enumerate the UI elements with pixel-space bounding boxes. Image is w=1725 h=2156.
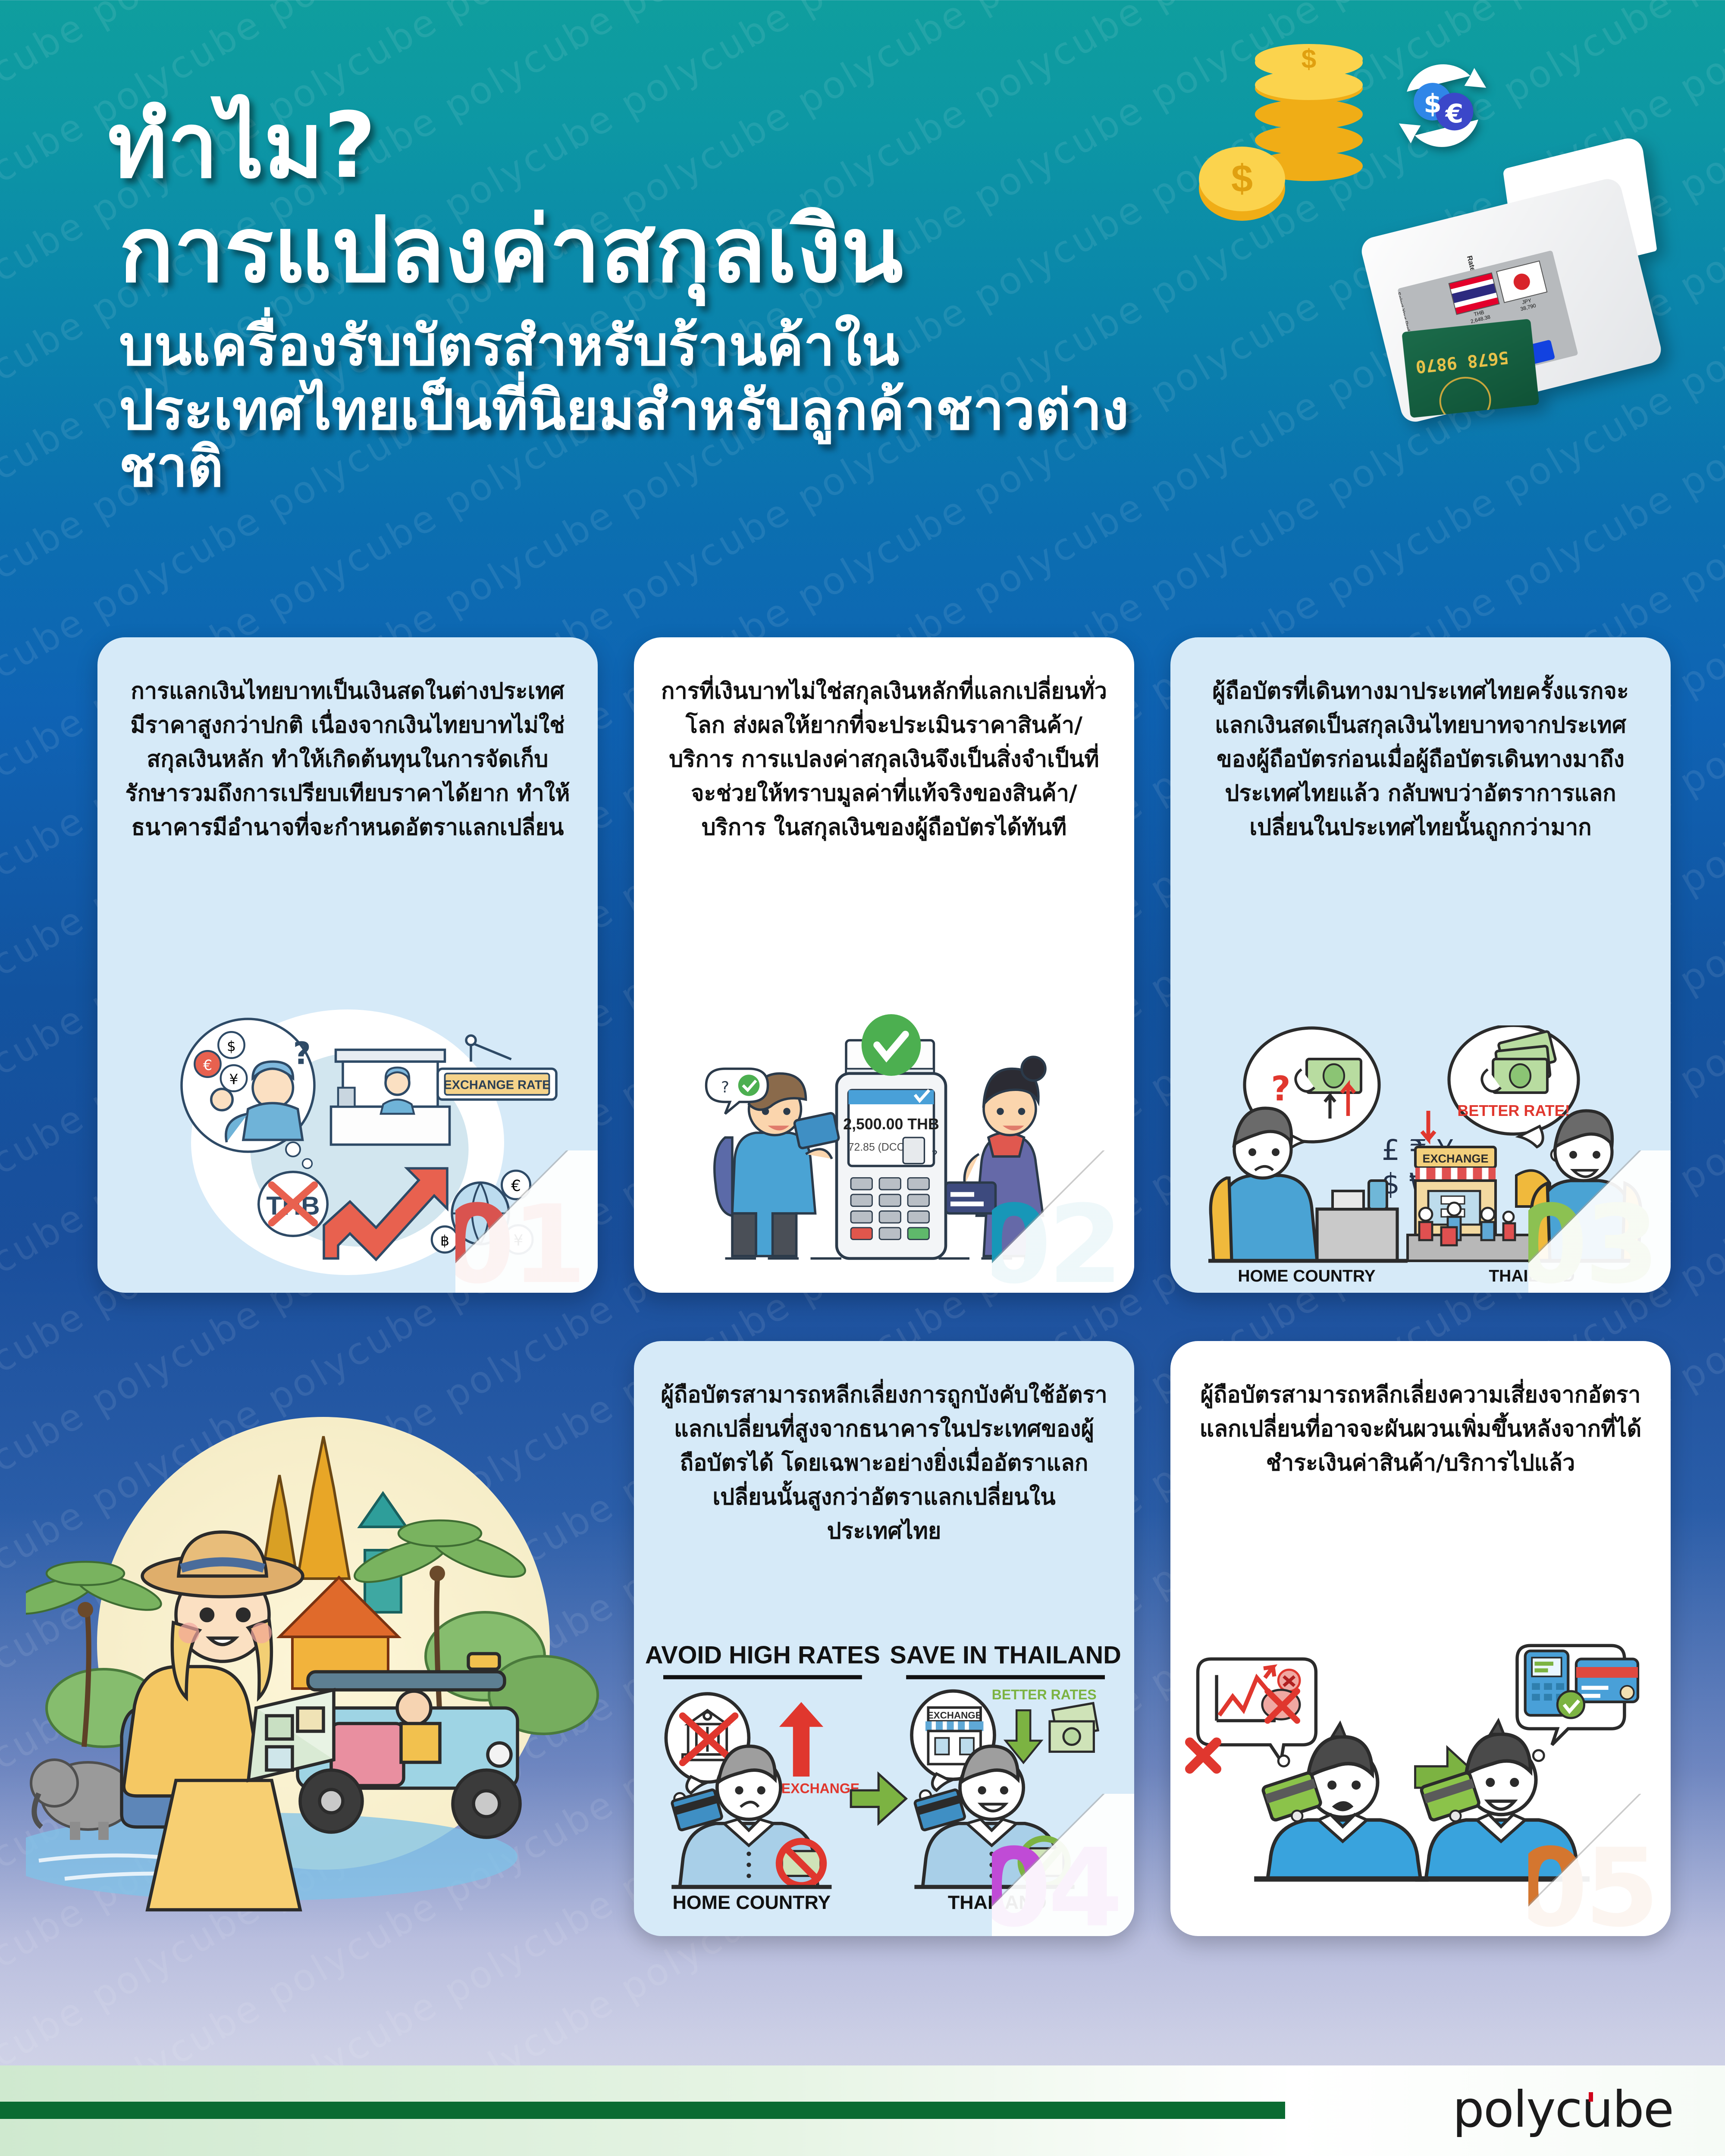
info-card-01[interactable]: การแลกเงินไทยบาทเป็นเงินสดในต่างประเทศ ม… bbox=[97, 637, 598, 1293]
page-subtitle-line-2: ประเทศไทยเป็นที่นิยมสำหรับลูกค้าชาวต่างช… bbox=[119, 382, 1229, 496]
footer: polycube bbox=[0, 2065, 1725, 2156]
card-number: 5678 9870 bbox=[1414, 347, 1509, 376]
merchant-card-icon bbox=[946, 1183, 996, 1214]
card-02-text: การที่เงินบาทไม่ใช่สกุลเงินหลักที่แลกเปล… bbox=[634, 674, 1134, 845]
coins-illustration: $ $ bbox=[1199, 56, 1380, 220]
polycube-logo-text: polycube bbox=[1452, 2081, 1673, 2139]
exchange-rate-sign-label: EXCHANGE RATE bbox=[444, 1078, 551, 1092]
info-card-02[interactable]: การที่เงินบาทไม่ใช่สกุลเงินหลักที่แลกเปล… bbox=[634, 637, 1134, 1293]
card-03-label-left: HOME COUNTRY bbox=[1238, 1267, 1375, 1284]
terminal-dcc: 72.85 (DCC) bbox=[848, 1141, 908, 1153]
red-x-icon bbox=[1190, 1742, 1217, 1769]
fx-left-symbol: $ bbox=[1424, 89, 1442, 119]
card-globe-icon bbox=[1437, 374, 1493, 418]
title-block: ทำไม? การแปลงค่าสกุลเงิน บนเครื่องรับบัต… bbox=[108, 99, 1229, 496]
fx-right-symbol: € bbox=[1445, 99, 1464, 129]
eur-symbol: € bbox=[203, 1056, 212, 1073]
tourist-scene-illustration bbox=[26, 1319, 621, 1923]
svg-text:฿: ฿ bbox=[440, 1232, 449, 1249]
card-03-number-fold: 03 bbox=[1528, 1150, 1671, 1293]
page-title-line-1: ทำไม? bbox=[108, 99, 1229, 192]
card-04-label-left: HOME COUNTRY bbox=[672, 1892, 831, 1913]
approved-check-icon bbox=[862, 1014, 921, 1076]
card-04-text: ผู้ถือบัตรสามารถหลีกเลี่ยงการถูกบังคับใช… bbox=[634, 1378, 1134, 1548]
terminal-prompt: Select Your Preferred Currency! bbox=[1397, 291, 1404, 301]
card-01-number-fold: 01 bbox=[455, 1150, 598, 1293]
header: ทำไม? การแปลงค่าสกุลเงิน บนเครื่องรับบัต… bbox=[0, 0, 1725, 612]
card-04-heading-right: SAVE IN THAILAND bbox=[890, 1642, 1121, 1669]
card-04-shop-sign: EXCHANGE bbox=[927, 1710, 982, 1721]
card-01-text: การแลกเงินไทยบาทเป็นเงินสดในต่างประเทศ ม… bbox=[97, 674, 598, 845]
info-card-05[interactable]: ผู้ถือบัตรสามารถหลีกเลี่ยงความเสี่ยงจากอ… bbox=[1170, 1341, 1671, 1936]
better-rate-bubble-text: BETTER RATE! bbox=[1457, 1102, 1570, 1119]
card-05-text: ผู้ถือบัตรสามารถหลีกเลี่ยงความเสี่ยงจากอ… bbox=[1170, 1378, 1671, 1480]
high-rate-arrow-up bbox=[779, 1702, 823, 1777]
card-04-heading-left: AVOID HIGH RATES bbox=[645, 1642, 880, 1669]
single-coin: $ bbox=[1199, 147, 1285, 229]
card-02-number-fold: 02 bbox=[992, 1150, 1134, 1293]
exchange-shop-sign: EXCHANGE bbox=[1422, 1152, 1488, 1165]
inserted-bank-card: 5678 9870 bbox=[1402, 319, 1539, 418]
footer-green-bar bbox=[0, 2102, 1285, 2119]
page-title-line-2: การแปลงค่าสกุลเงิน bbox=[119, 204, 1229, 297]
usd-symbol: $ bbox=[227, 1037, 236, 1054]
info-card-03[interactable]: ผู้ถือบัตรที่เดินทางมาประเทศไทยครั้งแรกจ… bbox=[1170, 637, 1671, 1293]
coin-dollar-symbol: $ bbox=[1302, 44, 1316, 75]
currency-exchange-icon: $ € bbox=[1393, 56, 1492, 155]
jpy-symbol: ¥ bbox=[229, 1071, 238, 1087]
coin-dollar-symbol-2: $ bbox=[1231, 157, 1253, 201]
svg-text:?: ? bbox=[1271, 1070, 1290, 1109]
info-card-04[interactable]: ผู้ถือบัตรสามารถหลีกเลี่ยงการถูกบังคับใช… bbox=[634, 1341, 1134, 1936]
polycube-logo: polycube bbox=[1452, 2081, 1673, 2139]
card-03-text: ผู้ถือบัตรที่เดินทางมาประเทศไทยครั้งแรกจ… bbox=[1170, 674, 1671, 845]
svg-text:?: ? bbox=[931, 1148, 938, 1162]
svg-text:?: ? bbox=[721, 1079, 729, 1097]
better-rates-note: BETTER RATES bbox=[992, 1687, 1097, 1702]
card-05-number-fold: 05 bbox=[1528, 1794, 1671, 1936]
logo-accent-dot bbox=[1589, 2092, 1593, 2102]
terminal-amount: 2,500.00 THB bbox=[843, 1116, 939, 1133]
card-04-number-fold: 04 bbox=[992, 1794, 1134, 1936]
header-payment-terminal: Rate selection Select Your Preferred Cur… bbox=[1350, 128, 1725, 450]
page-subtitle-line-1: บนเครื่องรับบัตรสำหรับร้านค้าใน bbox=[119, 318, 1229, 375]
question-mark: ? bbox=[293, 1036, 311, 1072]
